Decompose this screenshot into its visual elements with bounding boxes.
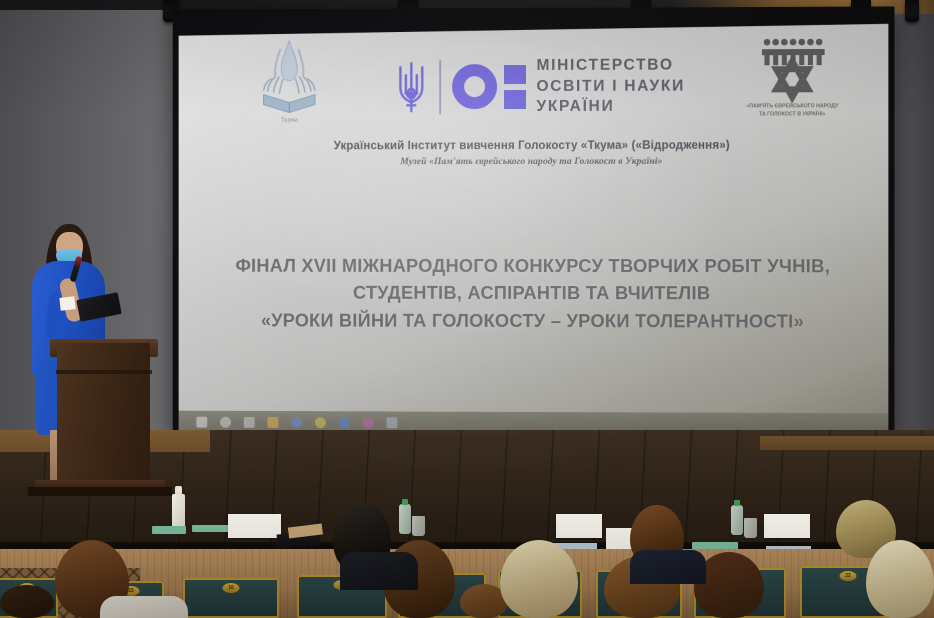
stage-skirt-right xyxy=(760,436,934,450)
audience-member xyxy=(500,540,578,618)
ministry-logo-text: МІНІСТЕРСТВО ОСВІТИ І НАУКИ УКРАЇНИ xyxy=(536,55,685,117)
app-icon-blue[interactable] xyxy=(339,417,350,428)
water-bottle xyxy=(731,505,743,535)
institute-name-line-2: Музей «Пам'ять єврейського народу та Гол… xyxy=(179,156,889,168)
holocaust-museum-menorah-logo: «ПАМ'ЯТЬ ЄВРЕЙСЬКОГО НАРОДУ ТА ГОЛОКОСТ … xyxy=(741,31,840,124)
mon-o-colon-mark xyxy=(452,64,526,109)
drinking-glass xyxy=(744,518,757,538)
water-bottle xyxy=(399,504,411,534)
tkuma-logo-caption: Ткума xyxy=(281,116,298,123)
podium-body xyxy=(57,343,150,495)
hand-sanitizer-bottle xyxy=(172,494,185,530)
app-icon-magenta[interactable] xyxy=(363,417,374,428)
presentation-slide: Ткума xyxy=(179,21,889,436)
seat-number: 16 xyxy=(223,583,240,593)
ministry-of-education-logo: МІНІСТЕРСТВО ОСВІТИ І НАУКИ УКРАЇНИ xyxy=(394,55,685,118)
task-view-icon[interactable] xyxy=(244,416,255,427)
file-explorer-icon[interactable] xyxy=(267,416,278,427)
tkuma-institute-logo: Ткума xyxy=(250,33,329,125)
logo-divider xyxy=(439,60,440,114)
institute-name-line-1: Український Інститут вивчення Голокосту … xyxy=(179,139,889,152)
app-icon-grey[interactable] xyxy=(386,417,397,428)
audience-shoulders xyxy=(100,596,188,618)
name-card xyxy=(764,514,810,538)
podium-base-plinth xyxy=(28,487,172,496)
start-icon[interactable] xyxy=(196,416,207,427)
name-badge xyxy=(59,296,75,310)
museum-logo-caption-line2: ТА ГОЛОКОСТ В УКРАЇНІ» xyxy=(759,110,826,117)
museum-logo-caption-line1: «ПАМ'ЯТЬ ЄВРЕЙСЬКОГО НАРОДУ xyxy=(746,101,839,109)
ukrainian-trident-icon xyxy=(394,57,428,117)
audience-shoulders xyxy=(630,550,706,584)
conference-photo-scene: Ткума xyxy=(0,0,934,618)
search-icon[interactable] xyxy=(220,416,231,427)
green-folder xyxy=(152,526,186,534)
auditorium-seat: 16 xyxy=(183,578,279,618)
projection-screen: Ткума xyxy=(179,21,889,436)
drinking-glass xyxy=(412,516,425,536)
audience-shoulders xyxy=(340,552,418,590)
projection-screen-frame: Ткума xyxy=(173,6,895,439)
mon-circle-icon xyxy=(452,65,497,110)
podium-trim xyxy=(56,370,152,374)
ceiling-spotlight-icon xyxy=(905,0,919,22)
name-card xyxy=(556,514,602,538)
notebook xyxy=(277,532,321,549)
name-card xyxy=(228,514,281,538)
mon-squares-icon xyxy=(504,65,526,109)
app-icon-yellow[interactable] xyxy=(315,417,326,428)
audience-shoulders xyxy=(810,552,880,592)
browser-icon[interactable] xyxy=(291,417,302,428)
slide-main-title: ФІНАЛ XVII МІЖНАРОДНОГО КОНКУРСУ ТВОРЧИХ… xyxy=(204,252,862,335)
audience-member xyxy=(0,585,54,618)
